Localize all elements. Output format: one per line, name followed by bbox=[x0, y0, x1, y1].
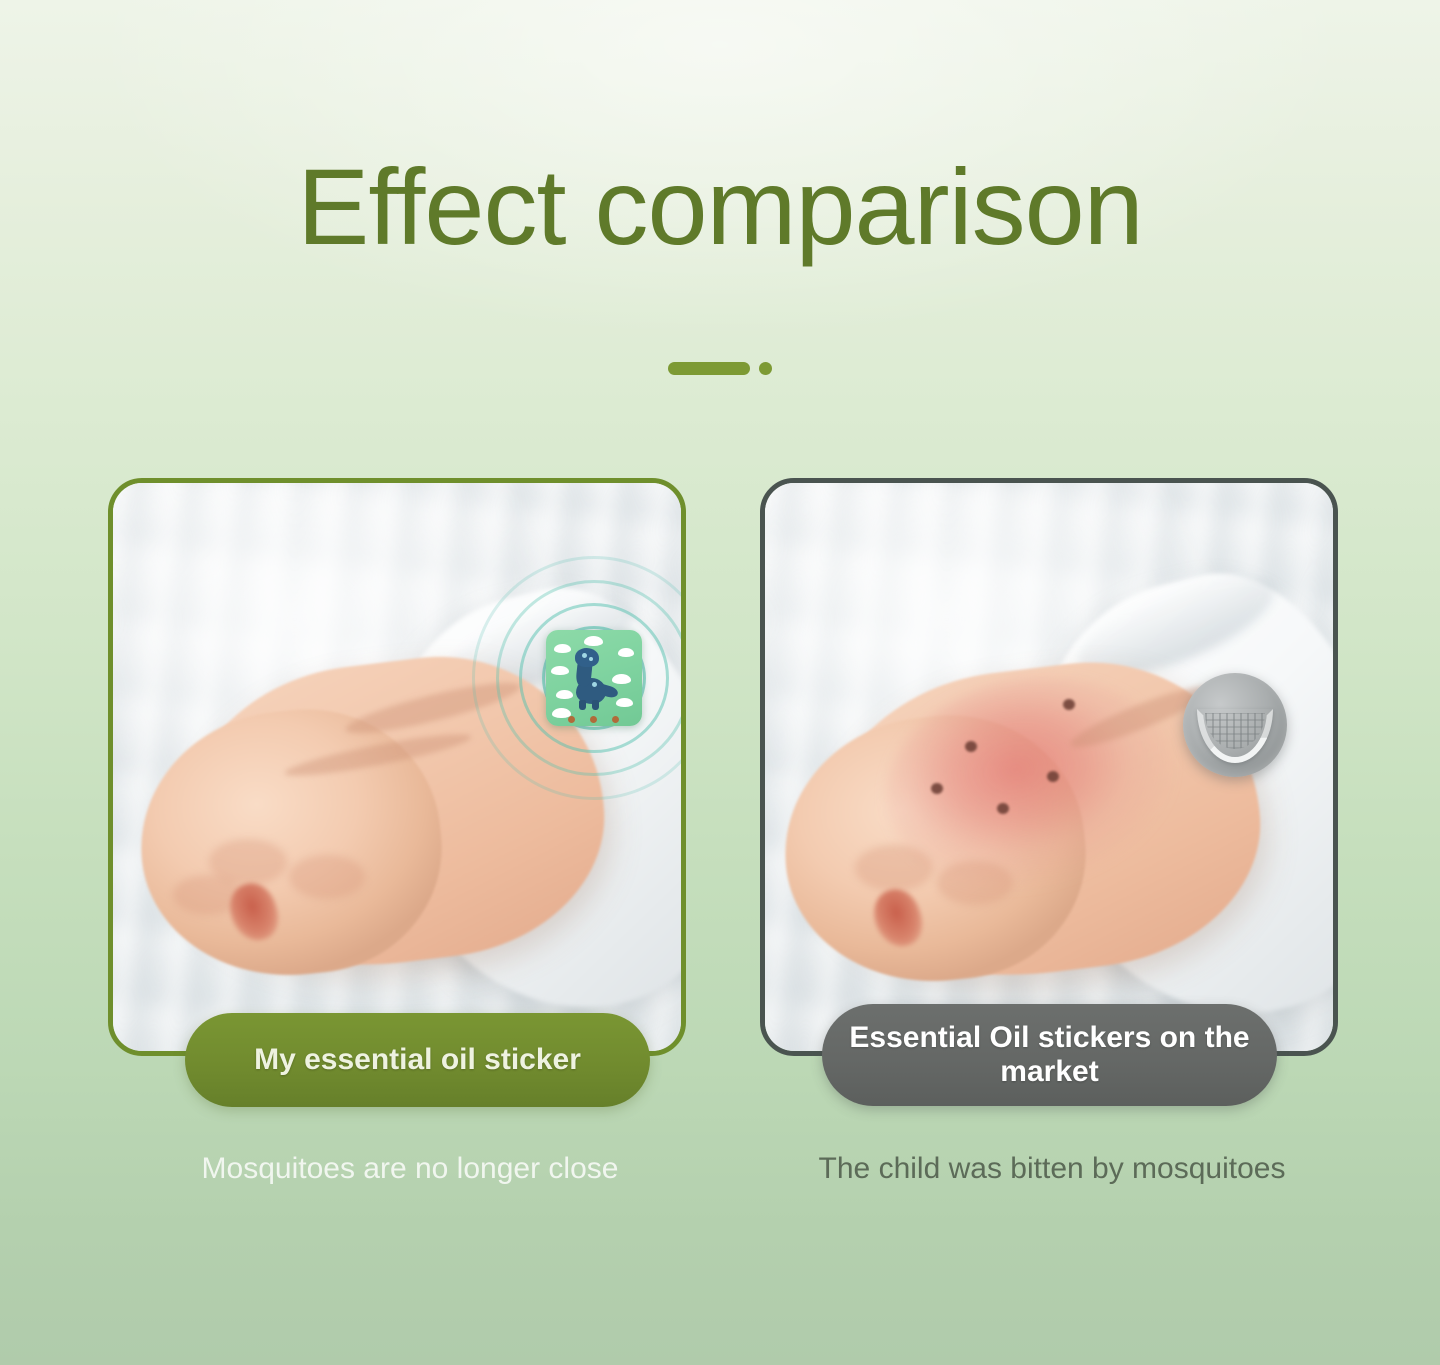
photo-baby-arm-bitten bbox=[765, 483, 1333, 1051]
divider-dot-icon bbox=[759, 362, 772, 375]
title-divider bbox=[668, 362, 772, 375]
badge-market-essential-oil-stickers[interactable]: Essential Oil stickers on the market bbox=[822, 1004, 1277, 1106]
page-title: Effect comparison bbox=[0, 150, 1440, 263]
divider-bar-icon bbox=[668, 362, 750, 375]
knuckle-shadow bbox=[289, 855, 365, 899]
comparison-card-right[interactable]: Essential Oil stickers on the market bbox=[760, 478, 1338, 1056]
dinosaur-sticker-group bbox=[489, 573, 681, 783]
caption-left: Mosquitoes are no longer close bbox=[110, 1152, 710, 1186]
badge-my-essential-oil-sticker[interactable]: My essential oil sticker bbox=[185, 1013, 650, 1107]
caption-right: The child was bitten by mosquitoes bbox=[752, 1152, 1352, 1186]
dinosaur-sticker-icon bbox=[546, 630, 642, 726]
knuckle-shadow bbox=[937, 861, 1013, 905]
comparison-card-left[interactable]: My essential oil sticker bbox=[108, 478, 686, 1056]
comparison-cards: My essential oil sticker bbox=[0, 478, 1440, 1078]
gray-clip-sticker-icon bbox=[1183, 673, 1287, 777]
mosquito-bite-mark bbox=[997, 803, 1009, 814]
background-glow bbox=[0, 0, 1440, 560]
dinosaur-figure bbox=[572, 648, 618, 710]
mosquito-bite-mark bbox=[965, 741, 977, 752]
mosquito-bite-mark bbox=[1047, 771, 1059, 782]
mosquito-bite-mark bbox=[1063, 699, 1075, 710]
photo-baby-arm-clean bbox=[113, 483, 681, 1051]
mosquito-bite-mark bbox=[931, 783, 943, 794]
knuckle-shadow bbox=[855, 845, 933, 891]
